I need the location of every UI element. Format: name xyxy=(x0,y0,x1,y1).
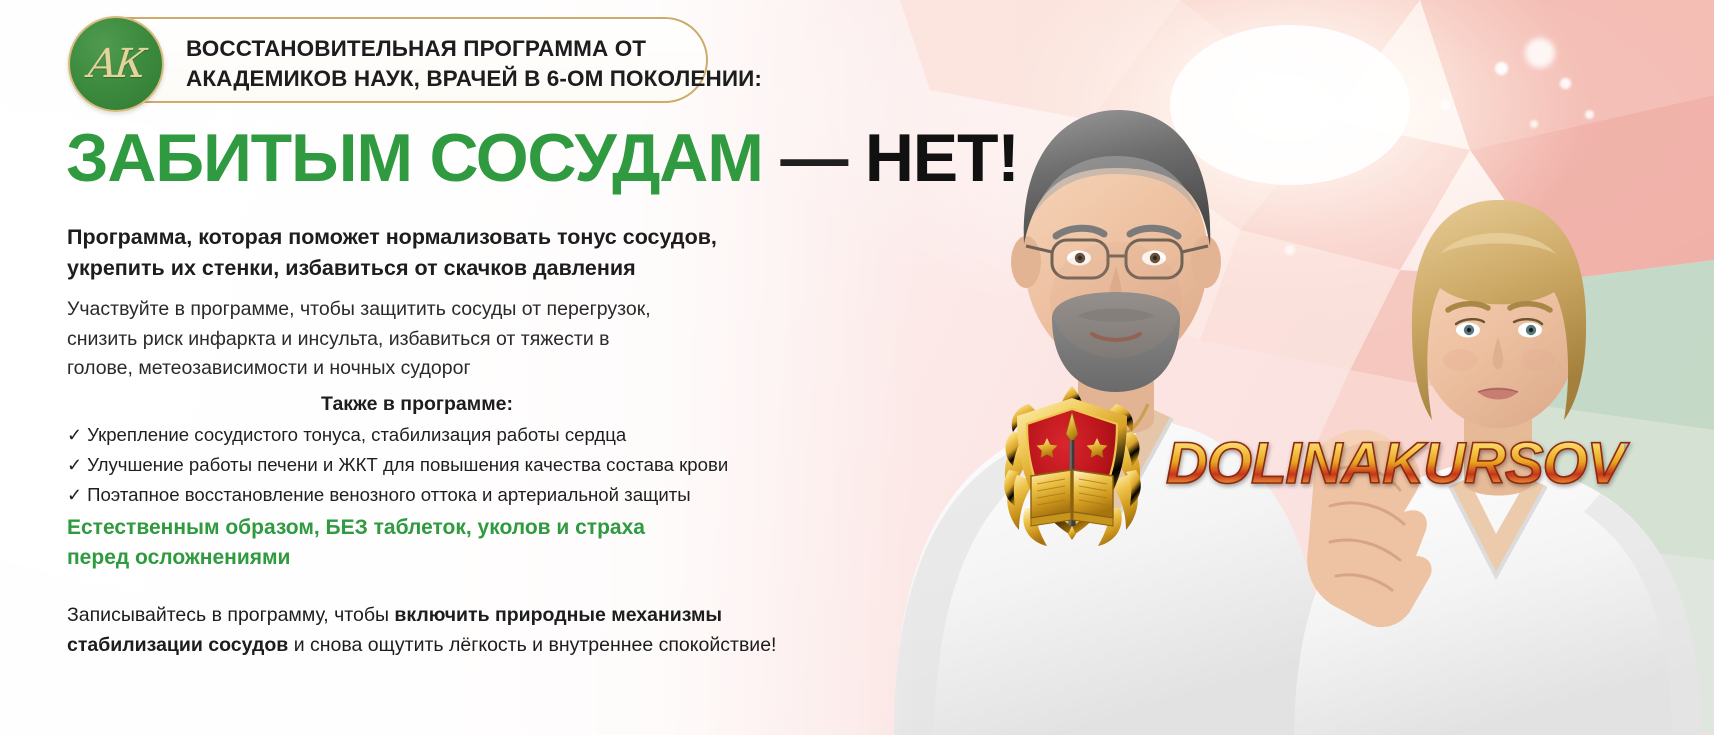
list-item-label: Укрепление сосудистого тонуса, стабилиза… xyxy=(87,424,626,445)
list-item: ✓Улучшение работы печени и ЖКТ для повыш… xyxy=(67,450,827,480)
ak-monogram-text: АК xyxy=(86,41,146,87)
body-paragraph: Участвуйте в программе, чтобы защитить с… xyxy=(67,295,717,384)
list-item-label: Поэтапное восстановление венозного отток… xyxy=(87,484,691,505)
green-highlight-note: Естественным образом, БЕЗ таблеток, укол… xyxy=(67,513,767,573)
list-item: ✓Поэтапное восстановление венозного отто… xyxy=(67,480,827,510)
header-block: АК ВОССТАНОВИТЕЛЬНАЯ ПРОГРАММА ОТ АКАДЕМ… xyxy=(68,16,762,112)
lead-line1: Программа, которая поможет нормализовать… xyxy=(67,222,767,253)
closing-part2: и снова ощутить лёгкость и внутреннее сп… xyxy=(288,634,776,656)
brand-wordmark: DOLINAKURSOV xyxy=(1166,430,1624,497)
list-item: ✓Укрепление сосудистого тонуса, стабилиз… xyxy=(67,420,827,450)
page-title: ЗАБИТЫМ СОСУДАМ — НЕТ! xyxy=(66,124,1019,192)
also-section-title: Также в программе: xyxy=(67,393,767,416)
closing-bold1: включить природные механизмы xyxy=(394,604,722,626)
body-line2: снизить риск инфаркта и инсульта, избави… xyxy=(67,325,717,355)
closing-part1: Записывайтесь в программу, чтобы xyxy=(67,604,394,626)
green-note-line2: перед осложнениями xyxy=(67,543,767,573)
header-tagline: ВОССТАНОВИТЕЛЬНАЯ ПРОГРАММА ОТ АКАДЕМИКО… xyxy=(186,34,762,94)
dolinakursov-logo: DOLINAKURSOV xyxy=(985,378,1624,548)
lead-line2: укрепить их стенки, избавиться от скачко… xyxy=(67,253,767,284)
check-icon: ✓ xyxy=(67,425,82,445)
list-item-label: Улучшение работы печени и ЖКТ для повыше… xyxy=(87,454,728,475)
promo-banner: АК ВОССТАНОВИТЕЛЬНАЯ ПРОГРАММА ОТ АКАДЕМ… xyxy=(0,0,1714,735)
headline-green: ЗАБИТЫМ СОСУДАМ xyxy=(66,120,763,196)
also-feature-list: ✓Укрепление сосудистого тонуса, стабилиз… xyxy=(67,420,827,510)
lead-paragraph: Программа, которая поможет нормализовать… xyxy=(67,222,767,284)
check-icon: ✓ xyxy=(67,455,82,475)
ak-monogram-logo: АК xyxy=(68,16,164,112)
green-note-line1: Естественным образом, БЕЗ таблеток, укол… xyxy=(67,513,767,543)
header-tagline-line2: АКАДЕМИКОВ НАУК, ВРАЧЕЙ В 6-ОМ ПОКОЛЕНИИ… xyxy=(186,64,762,94)
body-line3: голове, метеозависимости и ночных судоро… xyxy=(67,354,717,384)
headline-dash: — xyxy=(780,120,847,196)
closing-paragraph: Записывайтесь в программу, чтобы включит… xyxy=(67,601,807,660)
body-line1: Участвуйте в программе, чтобы защитить с… xyxy=(67,295,717,325)
header-tagline-line1: ВОССТАНОВИТЕЛЬНАЯ ПРОГРАММА ОТ xyxy=(186,34,762,64)
closing-bold2: стабилизации сосудов xyxy=(67,634,288,656)
headline-black: НЕТ! xyxy=(865,120,1019,196)
doctors-photo xyxy=(864,0,1714,735)
heraldic-shield-icon xyxy=(985,378,1160,548)
check-icon: ✓ xyxy=(67,485,82,505)
